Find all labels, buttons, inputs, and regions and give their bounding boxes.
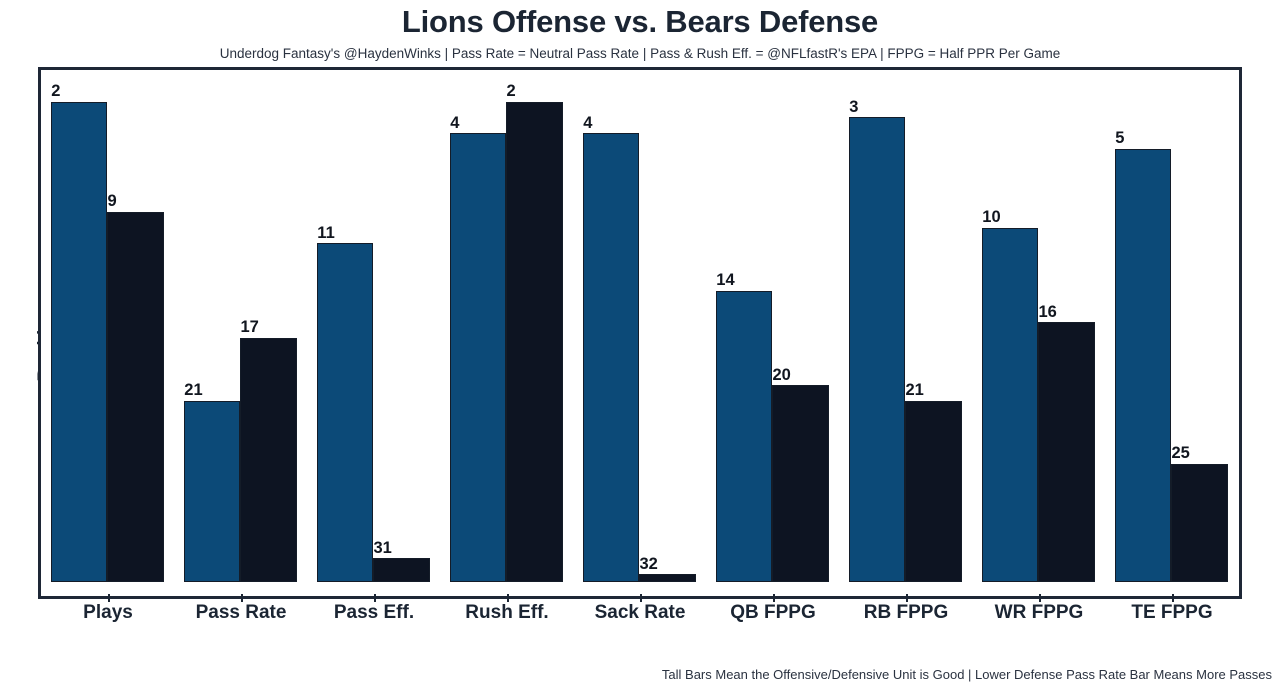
bar-holder: 3 <box>849 117 905 582</box>
x-tick-mark <box>108 594 110 602</box>
bar-rect[interactable] <box>184 401 240 582</box>
bar-rect[interactable] <box>716 291 772 582</box>
bars-layer: 29211711314243214203211016525 <box>41 70 1239 596</box>
bar-value-label: 21 <box>905 382 923 399</box>
bar-value-label: 32 <box>639 556 657 573</box>
bar-group: 525 <box>1115 70 1227 582</box>
bar-value-label: 31 <box>373 540 391 557</box>
chart-footnote: Tall Bars Mean the Offensive/Defensive U… <box>662 667 1272 682</box>
bar-offense[interactable]: 3 <box>849 70 905 582</box>
bar-defense[interactable]: 16 <box>1038 70 1094 582</box>
bar-holder: 25 <box>1171 464 1227 582</box>
bar-holder: 32 <box>639 574 695 582</box>
bar-holder: 2 <box>506 102 562 582</box>
bar-offense[interactable]: 21 <box>184 70 240 582</box>
bar-rect[interactable] <box>905 401 961 582</box>
chart-container: Lions Offense vs. Bears Defense Underdog… <box>0 0 1280 688</box>
bar-holder: 5 <box>1115 149 1171 582</box>
bar-holder: 14 <box>716 291 772 582</box>
bar-group: 1016 <box>982 70 1094 582</box>
bar-rect[interactable] <box>107 212 163 582</box>
bar-group: 42 <box>450 70 562 582</box>
bar-offense[interactable]: 5 <box>1115 70 1171 582</box>
bar-rect[interactable] <box>240 338 296 582</box>
x-tick-label-rb-fppg: RB FPPG <box>840 602 973 624</box>
bar-rect[interactable] <box>450 133 506 582</box>
bar-rect[interactable] <box>849 117 905 582</box>
bar-group: 321 <box>849 70 961 582</box>
bar-offense[interactable]: 4 <box>450 70 506 582</box>
bar-defense[interactable]: 17 <box>240 70 296 582</box>
bar-holder: 10 <box>982 228 1038 582</box>
bar-defense[interactable]: 2 <box>506 70 562 582</box>
bar-holder: 31 <box>373 558 429 582</box>
x-tick-mark <box>906 594 908 602</box>
bar-value-label: 5 <box>1115 130 1124 147</box>
bar-rect[interactable] <box>982 228 1038 582</box>
x-tick-label-sack-rate: Sack Rate <box>574 602 707 624</box>
bar-holder: 21 <box>184 401 240 582</box>
bar-group: 2117 <box>184 70 296 582</box>
bar-offense[interactable]: 2 <box>51 70 107 582</box>
bar-defense[interactable]: 31 <box>373 70 429 582</box>
bar-value-label: 2 <box>506 83 515 100</box>
chart-title: Lions Offense vs. Bears Defense <box>0 4 1280 40</box>
bar-holder: 11 <box>317 243 373 582</box>
bar-rect[interactable] <box>51 102 107 582</box>
bar-value-label: 20 <box>772 367 790 384</box>
bar-group: 29 <box>51 70 163 582</box>
bar-holder: 17 <box>240 338 296 582</box>
x-tick-mark <box>773 594 775 602</box>
x-tick-label-qb-fppg: QB FPPG <box>707 602 840 624</box>
bar-defense[interactable]: 21 <box>905 70 961 582</box>
bar-holder: 4 <box>583 133 639 582</box>
bar-rect[interactable] <box>583 133 639 582</box>
x-tick-mark <box>1039 594 1041 602</box>
bar-holder: 4 <box>450 133 506 582</box>
bar-rect[interactable] <box>1115 149 1171 582</box>
bar-group: 1131 <box>317 70 429 582</box>
bar-rect[interactable] <box>373 558 429 582</box>
bar-rect[interactable] <box>639 574 695 582</box>
x-axis: PlaysPass RatePass Eff.Rush Eff.Sack Rat… <box>38 602 1242 632</box>
bar-holder: 9 <box>107 212 163 582</box>
bar-value-label: 14 <box>716 272 734 289</box>
bar-value-label: 21 <box>184 382 202 399</box>
bar-value-label: 25 <box>1171 445 1189 462</box>
bar-holder: 20 <box>772 385 828 582</box>
bar-offense[interactable]: 11 <box>317 70 373 582</box>
bar-holder: 21 <box>905 401 961 582</box>
bar-offense[interactable]: 14 <box>716 70 772 582</box>
bar-offense[interactable]: 4 <box>583 70 639 582</box>
x-tick-label-pass-eff: Pass Eff. <box>308 602 441 624</box>
bar-defense[interactable]: 32 <box>639 70 695 582</box>
bar-defense[interactable]: 20 <box>772 70 828 582</box>
bar-defense[interactable]: 25 <box>1171 70 1227 582</box>
plot-area: 29211711314243214203211016525 <box>38 67 1242 599</box>
bar-value-label: 11 <box>317 225 334 242</box>
bar-group: 432 <box>583 70 695 582</box>
x-tick-mark <box>507 594 509 602</box>
bar-value-label: 4 <box>583 115 592 132</box>
x-tick-mark <box>1172 594 1174 602</box>
bar-defense[interactable]: 9 <box>107 70 163 582</box>
bar-value-label: 9 <box>107 193 116 210</box>
bar-value-label: 3 <box>849 99 858 116</box>
x-tick-mark <box>374 594 376 602</box>
x-tick-mark <box>640 594 642 602</box>
bar-value-label: 16 <box>1038 304 1056 321</box>
x-tick-label-plays: Plays <box>42 602 175 624</box>
x-tick-label-wr-fppg: WR FPPG <box>973 602 1106 624</box>
bar-group: 1420 <box>716 70 828 582</box>
bar-rect[interactable] <box>772 385 828 582</box>
bar-value-label: 10 <box>982 209 1000 226</box>
bar-holder: 16 <box>1038 322 1094 582</box>
bar-rect[interactable] <box>1171 464 1227 582</box>
bar-value-label: 17 <box>240 319 258 336</box>
bar-rect[interactable] <box>506 102 562 582</box>
bar-offense[interactable]: 10 <box>982 70 1038 582</box>
bar-value-label: 4 <box>450 115 459 132</box>
x-tick-label-rush-eff: Rush Eff. <box>441 602 574 624</box>
bar-holder: 2 <box>51 102 107 582</box>
x-tick-label-pass-rate: Pass Rate <box>175 602 308 624</box>
x-tick-mark <box>241 594 243 602</box>
chart-subtitle: Underdog Fantasy's @HaydenWinks | Pass R… <box>0 46 1280 61</box>
bar-rect[interactable] <box>317 243 373 582</box>
bar-value-label: 2 <box>51 83 60 100</box>
bar-rect[interactable] <box>1038 322 1094 582</box>
x-tick-label-te-fppg: TE FPPG <box>1106 602 1239 624</box>
